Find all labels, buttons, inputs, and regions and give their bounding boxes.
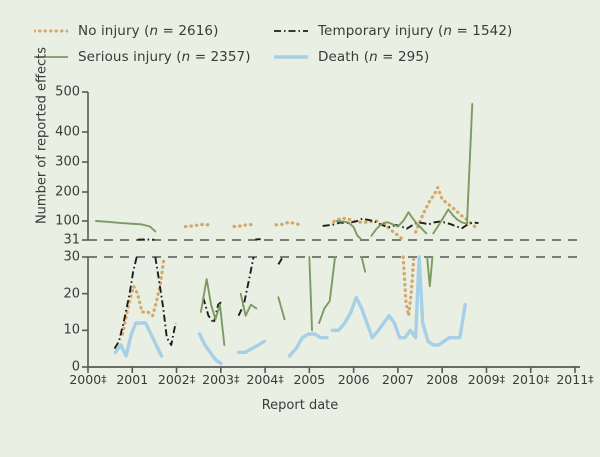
x-axis-tick-label: 2008: [426, 372, 458, 387]
x-axis-title: Report date: [0, 398, 600, 413]
series-line-serious-injury: [241, 294, 256, 316]
series-line-no-injury: [403, 257, 414, 316]
plot-area: 311002003004005000102030 2000‡20012002‡2…: [0, 0, 600, 457]
x-axis-tick-label: 2001: [116, 372, 148, 387]
x-axis-tick-label: 2010‡: [512, 372, 549, 387]
series-line-no-injury: [276, 222, 300, 224]
series-line-serious-injury: [433, 104, 472, 233]
series-line-serious-injury: [362, 257, 366, 272]
x-axis-tick-labels: 2000‡20012002‡2003‡2004‡2005200620072008…: [0, 372, 600, 392]
series-line-serious-injury: [309, 257, 312, 330]
x-axis-tick-label: 2002‡: [158, 372, 195, 387]
series-line-no-injury: [185, 224, 208, 226]
series-line-serious-injury: [427, 257, 432, 286]
series-line-temporary-injury: [155, 257, 175, 345]
y-axis-tick-label: 10: [36, 323, 80, 338]
series-line-serious-injury: [319, 257, 335, 323]
series-line-death: [332, 257, 465, 345]
chart-figure: No injury (n = 2616) Temporary injury (n…: [0, 0, 600, 457]
series-line-serious-injury: [96, 221, 155, 231]
series-line-serious-injury: [278, 297, 284, 319]
x-axis-tick-label: 2003‡: [202, 372, 239, 387]
x-axis-tick-label: 2006: [338, 372, 370, 387]
x-axis-tick-label: 2000‡: [69, 372, 106, 387]
x-axis-tick-label: 2007: [382, 372, 414, 387]
series-line-serious-injury: [337, 221, 361, 239]
x-axis-tick-label: 2009‡: [468, 372, 505, 387]
y-axis-tick-label: 20: [36, 286, 80, 301]
series-line-death: [289, 334, 327, 356]
series-line-temporary-injury: [115, 257, 137, 349]
series-line-temporary-injury: [278, 257, 282, 264]
series-line-temporary-injury: [239, 257, 254, 316]
series-line-death: [200, 334, 221, 363]
y-axis-title: Number of reported effects: [35, 6, 50, 266]
x-axis-tick-label: 2004‡: [246, 372, 283, 387]
series-line-serious-injury: [201, 279, 224, 345]
x-axis-tick-label: 2011‡: [556, 372, 593, 387]
series-line-death: [239, 341, 265, 352]
x-axis-tick-label: 2005: [293, 372, 325, 387]
series-line-no-injury: [234, 225, 252, 227]
